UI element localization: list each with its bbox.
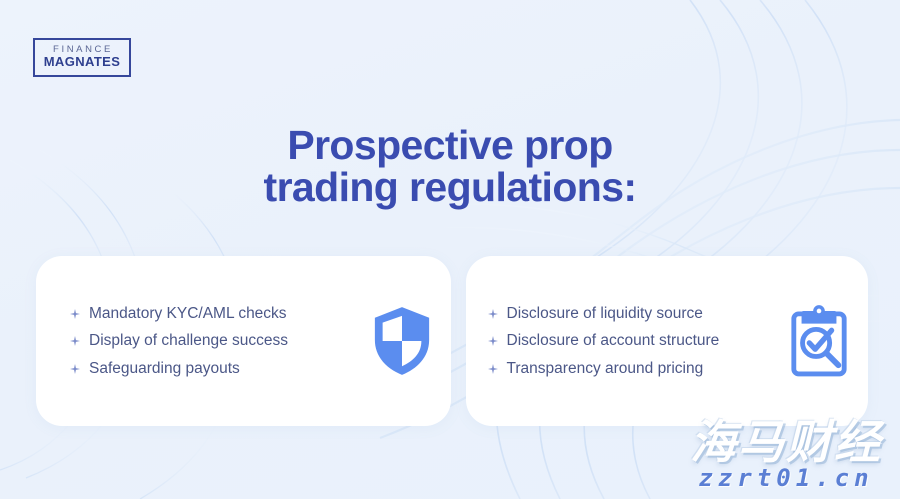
sparkle-bullet-icon bbox=[488, 309, 498, 319]
list-item: Transparency around pricing bbox=[488, 359, 777, 378]
page-title-line-2: trading regulations: bbox=[0, 167, 900, 209]
brand-logo: FINANCE MAGNATES bbox=[33, 38, 131, 77]
list-item: Mandatory KYC/AML checks bbox=[70, 304, 357, 323]
sparkle-bullet-icon bbox=[70, 309, 80, 319]
page-title-line-1: Prospective prop bbox=[0, 125, 900, 167]
right-card-icon-wrap bbox=[776, 304, 850, 378]
sparkle-bullet-icon bbox=[488, 336, 498, 346]
sparkle-bullet-icon bbox=[70, 336, 80, 346]
left-card: Mandatory KYC/AML checks Display of chal… bbox=[36, 256, 451, 426]
slide-canvas: FINANCE MAGNATES Prospective prop tradin… bbox=[0, 0, 900, 499]
page-title: Prospective prop trading regulations: bbox=[0, 125, 900, 209]
left-card-bullet-list: Mandatory KYC/AML checks Display of chal… bbox=[70, 304, 357, 378]
list-item-label: Disclosure of liquidity source bbox=[507, 304, 703, 323]
clipboard-check-search-icon bbox=[788, 304, 850, 378]
right-card-bullet-list: Disclosure of liquidity source Disclosur… bbox=[488, 304, 777, 378]
sparkle-bullet-icon bbox=[70, 364, 80, 374]
watermark-url-text: zzrt01.cn bbox=[690, 465, 882, 491]
brand-logo-bottom-text: MAGNATES bbox=[44, 55, 121, 70]
list-item-label: Disclosure of account structure bbox=[507, 331, 720, 350]
cards-container: Mandatory KYC/AML checks Display of chal… bbox=[36, 256, 868, 426]
list-item: Display of challenge success bbox=[70, 331, 357, 350]
list-item-label: Display of challenge success bbox=[89, 331, 288, 350]
watermark: 海马财经 zzrt01.cn bbox=[690, 418, 882, 491]
left-card-icon-wrap bbox=[357, 305, 433, 377]
sparkle-bullet-icon bbox=[488, 364, 498, 374]
list-item-label: Mandatory KYC/AML checks bbox=[89, 304, 287, 323]
right-card: Disclosure of liquidity source Disclosur… bbox=[466, 256, 869, 426]
list-item-label: Transparency around pricing bbox=[507, 359, 704, 378]
list-item: Safeguarding payouts bbox=[70, 359, 357, 378]
list-item-label: Safeguarding payouts bbox=[89, 359, 240, 378]
list-item: Disclosure of liquidity source bbox=[488, 304, 777, 323]
shield-icon bbox=[371, 305, 433, 377]
list-item: Disclosure of account structure bbox=[488, 331, 777, 350]
